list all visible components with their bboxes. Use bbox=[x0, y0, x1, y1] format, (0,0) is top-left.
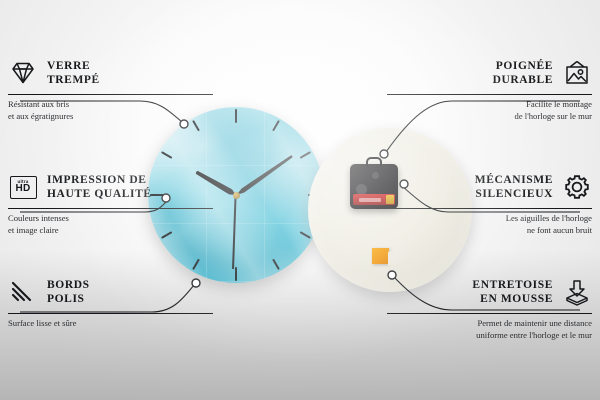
clock-tick bbox=[235, 109, 237, 195]
divider bbox=[8, 208, 213, 209]
feature-poignee-durable: POIGNÉE DURABLE Facilite le montage de l… bbox=[387, 56, 592, 122]
divider bbox=[387, 208, 592, 209]
product-infographic: VERRE TREMPÉ Résistant aux bris et aux é… bbox=[0, 0, 600, 400]
feature-description: Résistant aux bris et aux égratignures bbox=[8, 99, 213, 122]
diamond-icon bbox=[8, 58, 38, 88]
foam-spacer-arrow-icon bbox=[562, 277, 592, 307]
feature-description: Permet de maintenir une distance uniform… bbox=[387, 318, 592, 341]
ultra-hd-icon: ultra HD bbox=[8, 172, 38, 202]
polished-edges-icon bbox=[8, 277, 38, 307]
clock-center-cap bbox=[233, 192, 240, 199]
feature-mecanisme-silencieux: MÉCANISME SILENCIEUX Les aiguilles de l'… bbox=[387, 170, 592, 236]
divider bbox=[8, 94, 213, 95]
feature-entretoise-en-mousse: ENTRETOISE EN MOUSSE Permet de maintenir… bbox=[387, 275, 592, 341]
foam-spacer bbox=[372, 248, 389, 264]
feature-bords-polis: BORDS POLIS Surface lisse et sûre bbox=[8, 275, 213, 330]
feature-title: ENTRETOISE EN MOUSSE bbox=[472, 278, 553, 307]
feature-impression-haute-qualite: ultra HD IMPRESSION DE HAUTE QUALITÉ Cou… bbox=[8, 170, 213, 236]
feature-title: POIGNÉE DURABLE bbox=[493, 59, 553, 88]
feature-description: Couleurs intenses et image claire bbox=[8, 213, 213, 236]
feature-description: Les aiguilles de l'horloge ne font aucun… bbox=[387, 213, 592, 236]
mechanism-dot bbox=[372, 172, 379, 179]
divider bbox=[8, 313, 213, 314]
mechanism-hanger-tab bbox=[366, 157, 382, 167]
gear-icon bbox=[562, 172, 592, 202]
picture-frame-hanger-icon bbox=[562, 58, 592, 88]
feature-title: VERRE TREMPÉ bbox=[47, 59, 100, 88]
feature-title: IMPRESSION DE HAUTE QUALITÉ bbox=[47, 173, 152, 202]
divider bbox=[387, 94, 592, 95]
feature-title: BORDS POLIS bbox=[47, 278, 90, 307]
feature-verre-trempe: VERRE TREMPÉ Résistant aux bris et aux é… bbox=[8, 56, 213, 122]
feature-description: Surface lisse et sûre bbox=[8, 318, 213, 330]
feature-description: Facilite le montage de l'horloge sur le … bbox=[387, 99, 592, 122]
divider bbox=[387, 313, 592, 314]
feature-title: MÉCANISME SILENCIEUX bbox=[475, 173, 553, 202]
